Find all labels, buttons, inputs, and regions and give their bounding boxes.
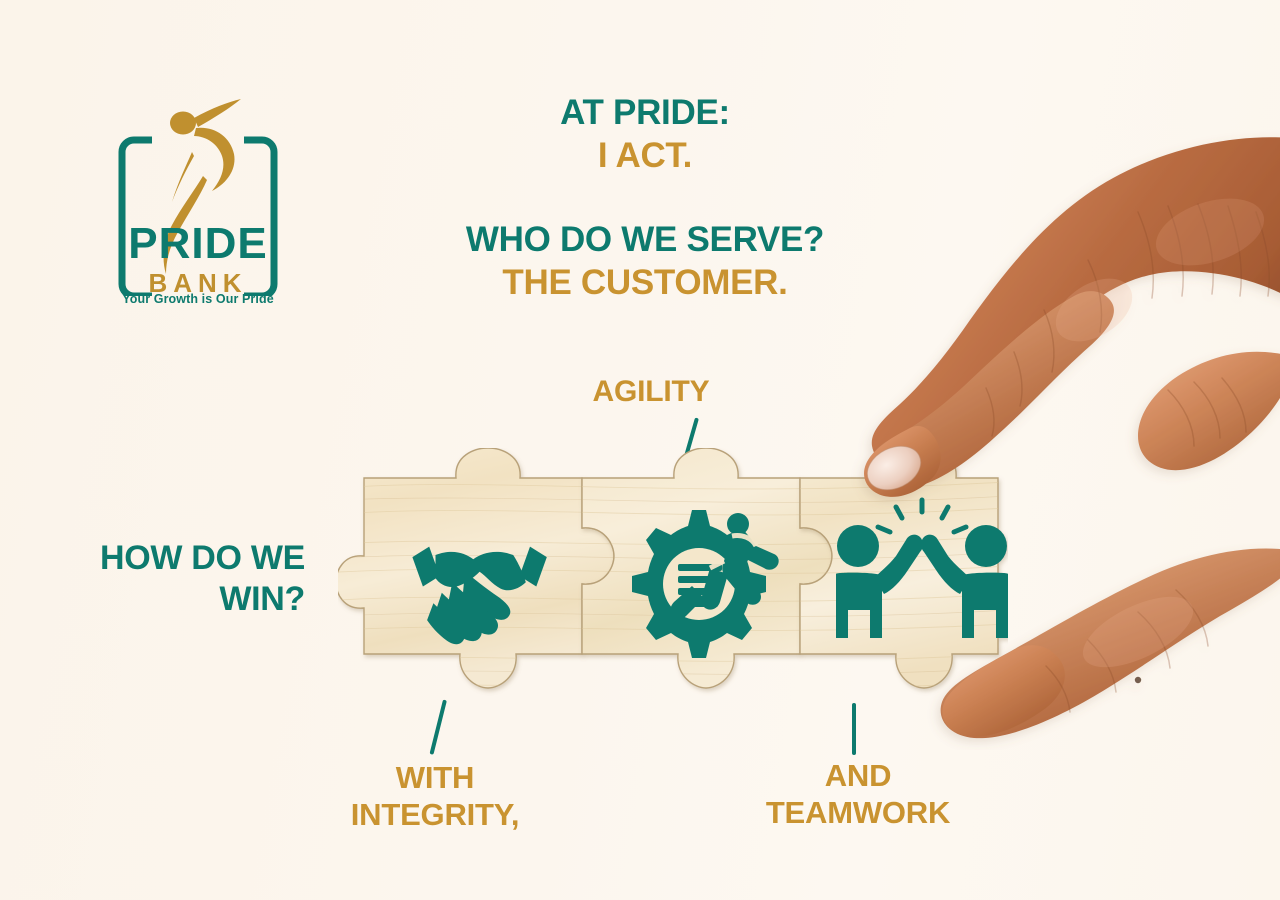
how-do-we-win-line-1: HOW DO WE: [55, 538, 305, 579]
callout-label-teamwork-line-2: TEAMWORK: [728, 795, 988, 832]
headline-block: AT PRIDE: I ACT. WHO DO WE SERVE? THE CU…: [400, 92, 890, 303]
logo-tagline: Your Growth is Our Pride: [108, 292, 288, 306]
callout-label-teamwork: AND TEAMWORK: [728, 758, 988, 831]
callout-label-teamwork-line-1: AND: [728, 758, 988, 795]
headline-line-4: THE CUSTOMER.: [400, 262, 890, 303]
hand-photo: [838, 120, 1280, 750]
svg-text:PRIDE: PRIDE: [128, 219, 267, 268]
how-do-we-win-question: HOW DO WE WIN?: [55, 538, 305, 620]
callout-label-agility: AGILITY: [556, 374, 746, 409]
callout-label-integrity-line-2: INTEGRITY,: [310, 797, 560, 834]
poster-canvas: PRIDE BANK Your Growth is Our Pride AT P…: [0, 0, 1280, 900]
headline-line-3: WHO DO WE SERVE?: [400, 219, 890, 260]
puzzle-piece-agility[interactable]: [582, 448, 832, 688]
callout-label-integrity: WITH INTEGRITY,: [310, 760, 560, 833]
pride-bank-logo: PRIDE BANK Your Growth is Our Pride: [108, 96, 288, 321]
logo-mark-icon: PRIDE BANK: [108, 96, 288, 296]
headline-line-2: I ACT.: [400, 135, 890, 176]
headline-line-1: AT PRIDE:: [400, 92, 890, 133]
callout-label-integrity-line-1: WITH: [310, 760, 560, 797]
puzzle-piece-integrity[interactable]: [338, 448, 614, 688]
how-do-we-win-line-2: WIN?: [55, 579, 305, 620]
